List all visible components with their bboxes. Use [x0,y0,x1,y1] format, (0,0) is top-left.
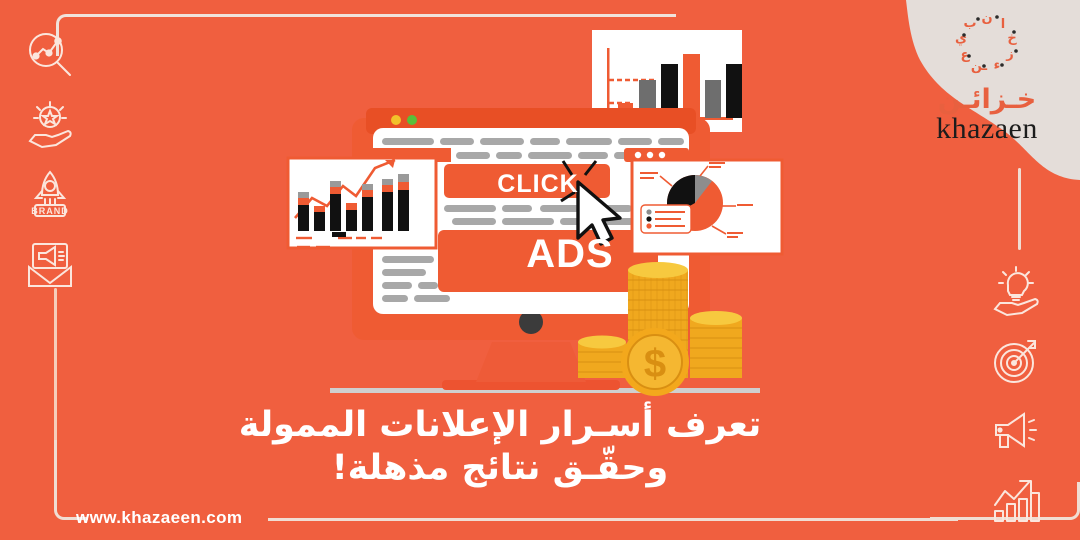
ads-button-label[interactable]: ADS [470,232,670,277]
headline-line-1: تعرف أسـرار الإعلانات الممولة [150,404,850,447]
growth-chart-arrow-icon [986,472,1046,530]
left-stacked-chart-card [288,158,436,248]
megaphone-icon [986,402,1046,460]
rocket-brand-icon: BRAND [20,166,80,224]
brand-name-arabic: خـزائـن [902,86,1072,113]
target-arrow-icon [986,332,1046,390]
hand-holding-lightbulb-icon [986,262,1046,320]
window-dot-yellow [391,115,401,125]
window-dot-green [407,115,417,125]
brand-logo: ن ا خ ز ء ـن ع ي ب [902,8,1072,145]
headline-line-2: وحقّـق نتائج مذهلة! [150,447,850,490]
khazaen-circular-monogram-icon: ن ا خ ز ء ـن ع ي ب [950,8,1024,82]
click-button-label[interactable]: CLICK [468,170,608,199]
hand-holding-star-icon [20,96,80,154]
svg-text:$: $ [644,342,666,386]
poster-canvas: $ CLICK ADS [0,0,1080,540]
svg-text:BRAND: BRAND [31,206,69,216]
svg-text:ء: ء [994,58,1001,73]
icon-rail-right [986,262,1052,540]
icon-rail-left: BRAND [20,26,86,306]
svg-text:ن: ن [981,11,992,26]
headline: تعرف أسـرار الإعلانات الممولة وحقّـق نتا… [150,404,850,489]
analytics-magnifier-icon [20,26,80,84]
svg-text:ب: ب [963,16,976,31]
svg-text:ي: ي [955,31,967,46]
megaphone-envelope-icon [20,236,80,294]
svg-text:خ: خ [1007,31,1017,46]
website-url[interactable]: www.khazaeen.com [76,508,242,528]
brand-name-latin: khazaen [902,113,1072,145]
svg-text:ز: ز [1005,47,1013,62]
svg-text:ا: ا [1001,17,1005,32]
